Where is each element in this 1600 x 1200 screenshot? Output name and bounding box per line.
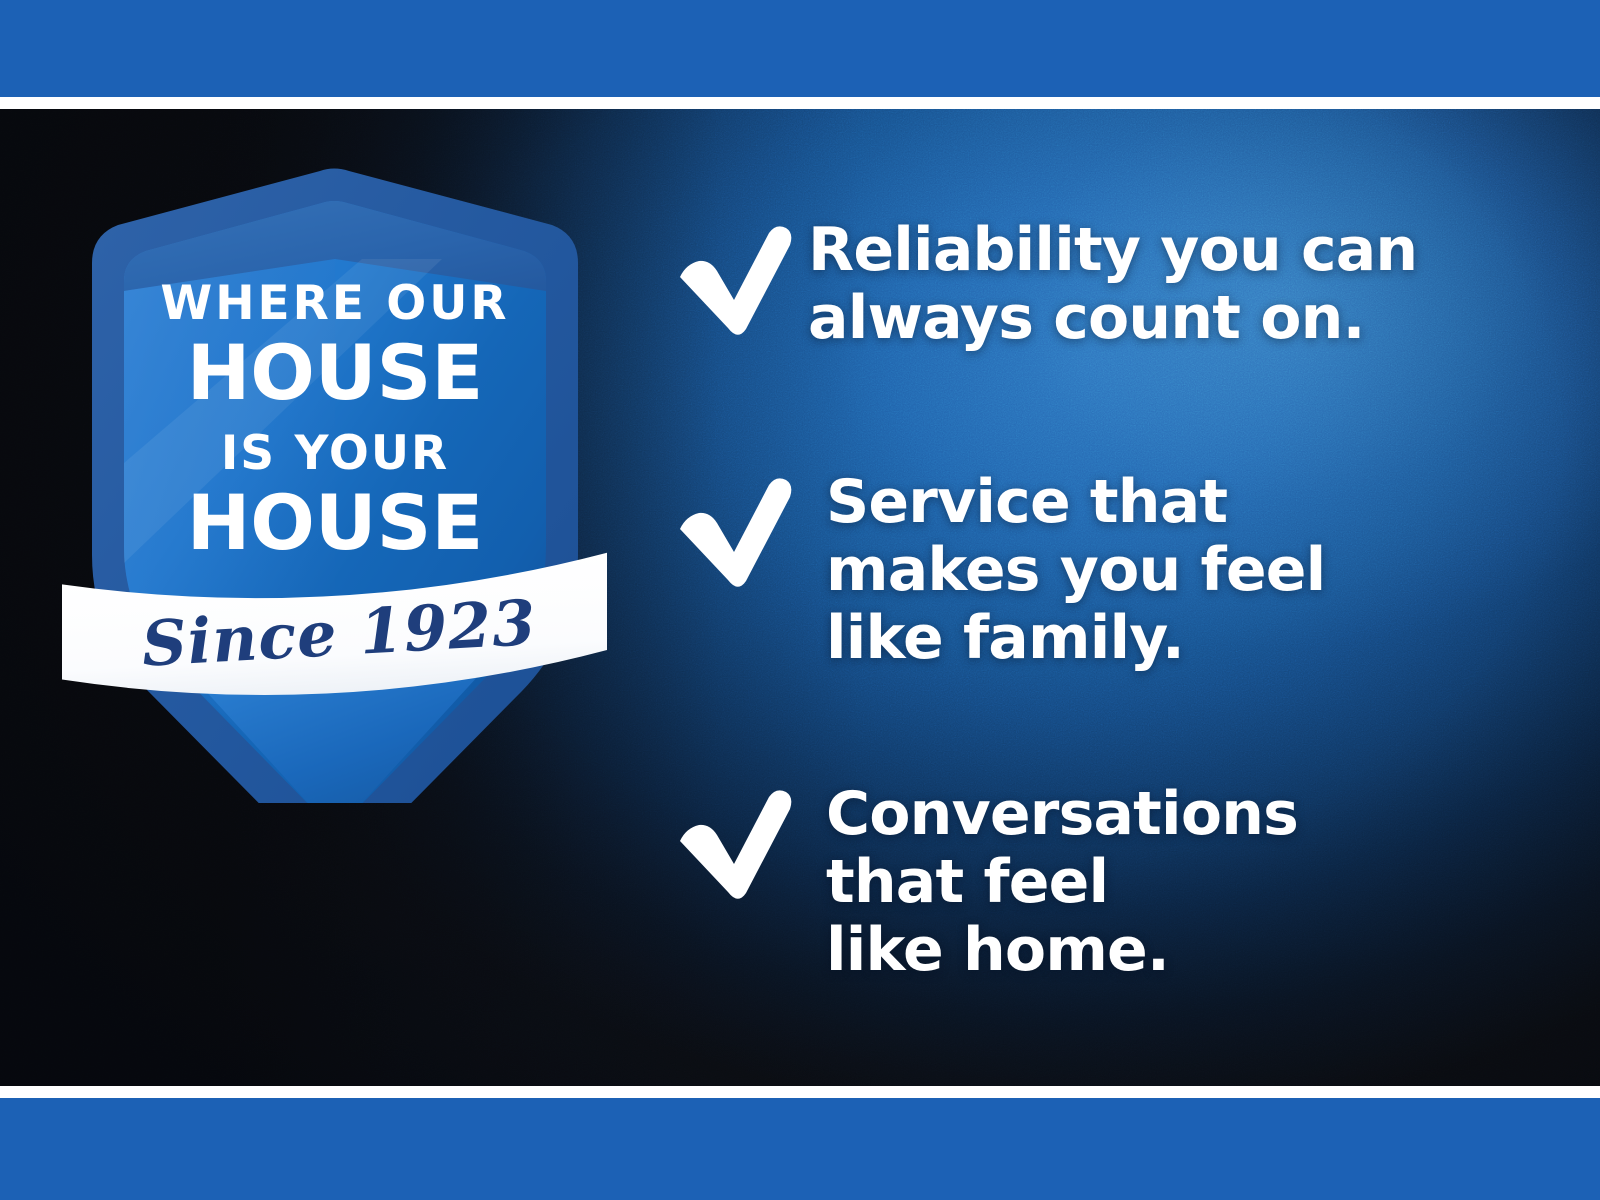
badge-line-3: IS YOUR bbox=[221, 426, 449, 481]
top-brand-bar bbox=[0, 0, 1600, 97]
benefits-list: Reliability you can always count on. Ser… bbox=[672, 109, 1552, 1086]
badge-line-4: HOUSE bbox=[187, 478, 484, 567]
benefit-item-1: Reliability you can always count on. bbox=[672, 217, 1417, 353]
shield-badge: WHERE OUR HOUSE IS YOUR HOUSE Since 1923 bbox=[62, 163, 607, 803]
benefit-text-2: Service that makes you feel like family. bbox=[826, 469, 1325, 672]
benefit-item-2: Service that makes you feel like family. bbox=[672, 469, 1325, 672]
promo-poster: WHERE OUR HOUSE IS YOUR HOUSE Since 1923… bbox=[0, 0, 1600, 1200]
benefit-text-3: Conversations that feel like home. bbox=[826, 781, 1298, 984]
bottom-brand-bar bbox=[0, 1098, 1600, 1200]
bottom-bar-divider bbox=[0, 1086, 1600, 1098]
benefit-item-3: Conversations that feel like home. bbox=[672, 781, 1298, 984]
badge-line-2: HOUSE bbox=[187, 328, 484, 417]
checkmark-icon bbox=[672, 781, 808, 899]
benefit-text-1: Reliability you can always count on. bbox=[808, 217, 1417, 353]
top-bar-divider bbox=[0, 97, 1600, 109]
checkmark-icon bbox=[672, 217, 808, 335]
checkmark-icon bbox=[672, 469, 808, 587]
badge-line-1: WHERE OUR bbox=[160, 276, 509, 331]
